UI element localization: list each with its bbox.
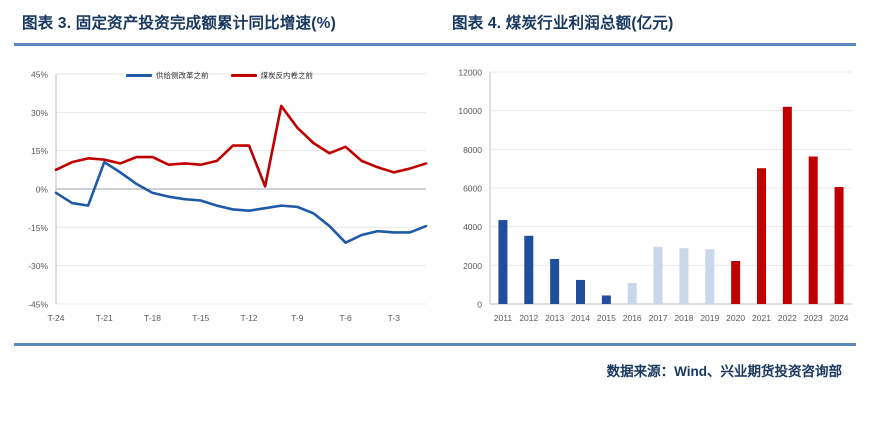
bar-2016 <box>628 283 637 304</box>
legend-item-blue: 供给侧改革之前 <box>126 70 209 81</box>
legend-swatch-blue <box>126 74 152 77</box>
x-axis-tick-label: 2011 <box>494 313 513 323</box>
y-axis-tick-label: -15% <box>28 223 48 233</box>
bar-2015 <box>602 295 611 304</box>
divider-top <box>14 43 856 46</box>
x-axis-tick-label: 2012 <box>519 313 538 323</box>
bar-2018 <box>679 248 688 304</box>
figure-page: 图表 3. 固定资产投资完成额累计同比增速(%) 图表 4. 煤炭行业利润总额(… <box>0 0 870 430</box>
bar-2020 <box>731 261 740 304</box>
x-axis-tick-label: 2015 <box>597 313 616 323</box>
titles-row: 图表 3. 固定资产投资完成额累计同比增速(%) 图表 4. 煤炭行业利润总额(… <box>0 0 870 42</box>
y-axis-tick-label: 8000 <box>463 145 482 155</box>
y-axis-tick-label: -45% <box>28 300 48 310</box>
bar-2019 <box>705 249 714 304</box>
y-axis-tick-label: 0 <box>477 300 482 310</box>
y-axis-tick-label: 45% <box>31 70 48 80</box>
x-axis-tick-label: 2018 <box>674 313 693 323</box>
bar-2022 <box>783 107 792 304</box>
bar-2011 <box>498 220 507 304</box>
chart-title-left: 图表 3. 固定资产投资完成额累计同比增速(%) <box>22 11 336 33</box>
x-axis-tick-label: 2024 <box>830 313 849 323</box>
x-axis-tick-label: T-18 <box>144 313 161 323</box>
divider-bottom <box>14 343 856 346</box>
bar-plot-area: 0200040006000800010000120002011201220132… <box>438 52 862 338</box>
bar-2023 <box>809 157 818 304</box>
bar-chart-svg: 0200040006000800010000120002011201220132… <box>438 52 862 338</box>
line-chart-legend: 供给侧改革之前 煤炭反内卷之前 <box>126 70 313 81</box>
y-axis-tick-label: 4000 <box>463 222 482 232</box>
source-note: 数据来源：Wind、兴业期货投资咨询部 <box>0 360 856 380</box>
legend-item-red: 煤炭反内卷之前 <box>231 70 314 81</box>
y-axis-tick-label: 12000 <box>458 68 482 78</box>
x-axis-tick-label: 2022 <box>778 313 797 323</box>
x-axis-tick-label: 2019 <box>700 313 719 323</box>
x-axis-tick-label: 2017 <box>649 313 668 323</box>
x-axis-tick-label: 2020 <box>726 313 745 323</box>
x-axis-tick-label: 2013 <box>545 313 564 323</box>
y-axis-tick-label: -30% <box>28 261 48 271</box>
x-axis-tick-label: 2023 <box>804 313 823 323</box>
y-axis-tick-label: 6000 <box>463 184 482 194</box>
line-plot-area: 45%30%15%0%-15%-30%-45%T-24T-21T-18T-15T… <box>8 52 432 338</box>
y-axis-tick-label: 0% <box>36 185 49 195</box>
y-axis-tick-label: 2000 <box>463 261 482 271</box>
bar-2021 <box>757 168 766 304</box>
bar-2012 <box>524 236 533 304</box>
x-axis-tick-label: 2014 <box>571 313 590 323</box>
bar-2013 <box>550 259 559 304</box>
legend-swatch-red <box>231 74 257 77</box>
line-chart-svg: 45%30%15%0%-15%-30%-45%T-24T-21T-18T-15T… <box>8 52 432 338</box>
line-series-blue <box>56 162 426 243</box>
y-axis-tick-label: 10000 <box>458 106 482 116</box>
x-axis-tick-label: T-24 <box>47 313 64 323</box>
legend-label-blue: 供给侧改革之前 <box>156 70 209 81</box>
x-axis-tick-label: T-6 <box>339 313 352 323</box>
line-series-red <box>56 106 426 187</box>
x-axis-tick-label: 2021 <box>752 313 771 323</box>
x-axis-tick-label: T-3 <box>388 313 401 323</box>
x-axis-tick-label: T-9 <box>291 313 304 323</box>
x-axis-tick-label: T-12 <box>241 313 258 323</box>
y-axis-tick-label: 15% <box>31 146 48 156</box>
x-axis-tick-label: 2016 <box>623 313 642 323</box>
bar-2014 <box>576 280 585 304</box>
bar-2017 <box>654 247 663 304</box>
bar-chart-panel: 0200040006000800010000120002011201220132… <box>438 52 862 338</box>
legend-label-red: 煤炭反内卷之前 <box>261 70 314 81</box>
x-axis-tick-label: T-21 <box>96 313 113 323</box>
chart-title-right: 图表 4. 煤炭行业利润总额(亿元) <box>452 11 673 33</box>
y-axis-tick-label: 30% <box>31 108 48 118</box>
line-chart-panel: 供给侧改革之前 煤炭反内卷之前 45%30%15%0%-15%-30%-45%T… <box>8 52 432 338</box>
x-axis-tick-label: T-15 <box>192 313 209 323</box>
bar-2024 <box>835 187 844 304</box>
